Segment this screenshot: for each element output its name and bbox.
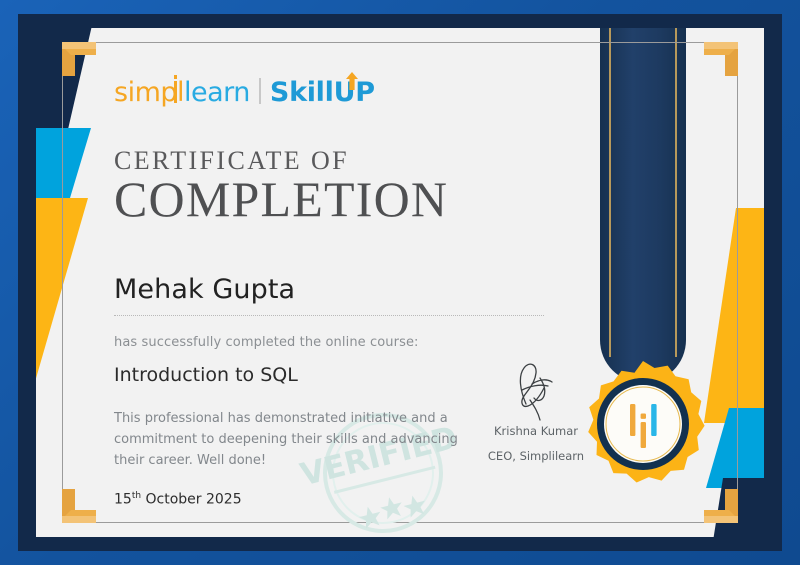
completion-subline: has successfully completed the online co…	[114, 335, 614, 350]
certificate: VERIFIED	[0, 0, 800, 565]
corner-bevel	[704, 516, 738, 523]
logo-accent-dot	[174, 75, 177, 79]
simplilearn-wordmark: simpllearn	[114, 79, 250, 106]
corner-bevel	[62, 516, 96, 523]
corner-ornament-bottom-left	[62, 489, 96, 523]
left-stripe-gold	[36, 198, 96, 413]
corner-ornament-top-right	[704, 42, 738, 76]
issue-date-day: 15	[114, 492, 132, 508]
recipient-underline	[114, 315, 544, 316]
certificate-paper: VERIFIED	[36, 28, 764, 537]
corner-bevel	[704, 42, 738, 49]
left-stripe-group	[36, 28, 96, 537]
issue-date-ordinal: th	[132, 491, 141, 501]
signatory-role: CEO, Simplilearn	[452, 449, 620, 463]
right-stripe-gold	[704, 208, 764, 423]
signature-block: Krishna Kumar CEO, Simplilearn	[452, 360, 620, 463]
logo-learn-text: learn	[184, 77, 250, 108]
signature-mark	[496, 360, 576, 422]
corner-ornament-bottom-right	[704, 489, 738, 523]
skillup-wordmark: SkillUP	[270, 79, 375, 106]
issue-date: 15th October 2025	[114, 491, 614, 508]
signatory-name: Krishna Kumar	[452, 424, 620, 438]
ribbon-pinstripe-right	[675, 28, 677, 357]
logo-skill-text: Skill	[270, 77, 334, 108]
up-arrow-icon	[345, 68, 359, 95]
corner-ornament-top-left	[62, 42, 96, 76]
heading-line-2: COMPLETION	[114, 172, 614, 226]
recipient-name: Mehak Gupta	[114, 274, 614, 305]
issue-date-rest: October 2025	[141, 492, 242, 508]
logo-accent-bar	[174, 81, 177, 103]
brand-logo: simpllearn SkillUP	[114, 72, 614, 106]
left-stripe-cyan	[36, 128, 96, 208]
logo-divider	[259, 78, 261, 104]
corner-bevel	[62, 42, 96, 49]
achievement-blurb: This professional has demonstrated initi…	[114, 408, 469, 471]
right-stripe-group	[704, 28, 764, 537]
certificate-content: simpllearn SkillUP CERTIFICATE OF COMPLE…	[114, 72, 614, 497]
